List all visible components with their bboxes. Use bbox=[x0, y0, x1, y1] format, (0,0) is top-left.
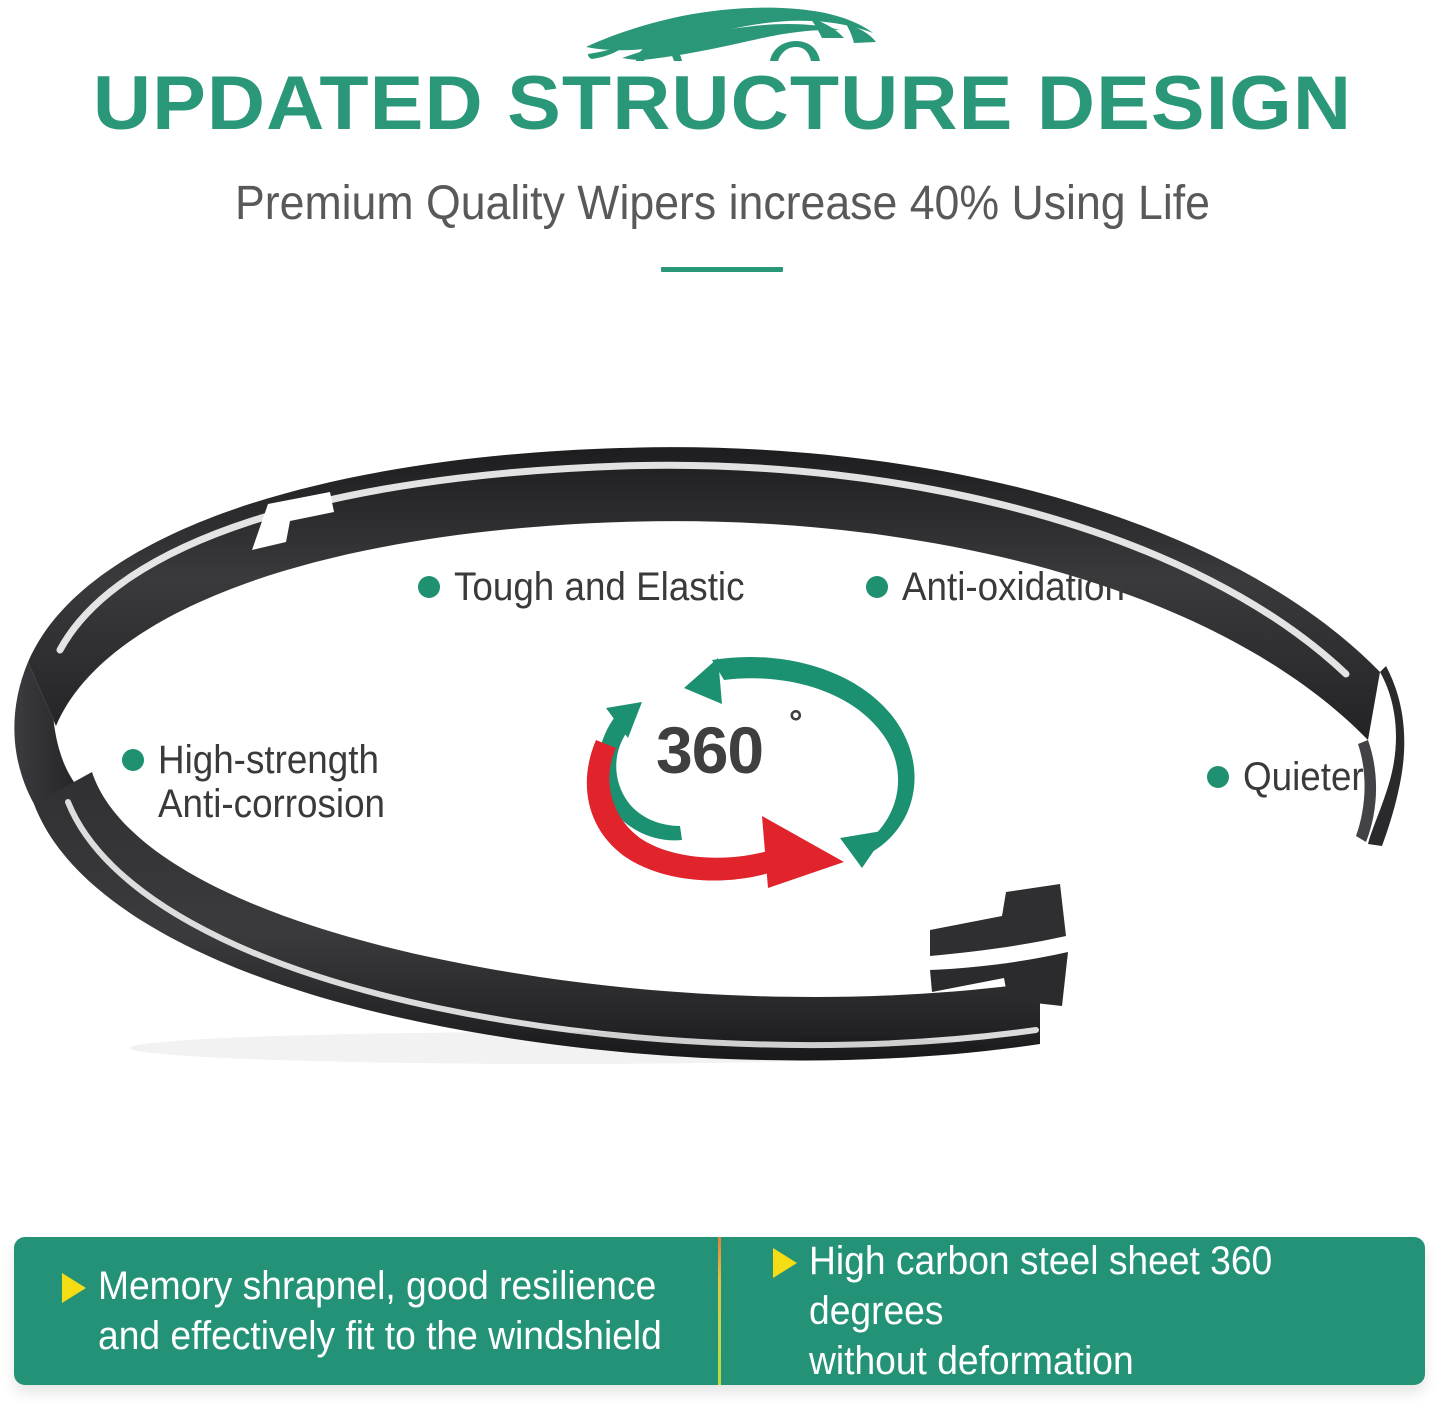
badge-360-degree: 360 ° bbox=[572, 652, 924, 888]
title-divider bbox=[661, 267, 783, 272]
triangle-marker-icon bbox=[773, 1248, 797, 1278]
strip-ground-shadow bbox=[130, 1032, 990, 1064]
page-subtitle: Premium Quality Wipers increase 40% Usin… bbox=[51, 176, 1395, 232]
bullet-dot-icon bbox=[1207, 766, 1229, 788]
product-infographic: UPDATED STRUCTURE DESIGN Premium Quality… bbox=[0, 0, 1445, 1421]
bullet-dot-icon bbox=[122, 749, 144, 771]
banner-item-high-carbon-steel: High carbon steel sheet 360 degrees with… bbox=[773, 1237, 1425, 1385]
bullet-dot-icon bbox=[866, 576, 888, 598]
feature-quieter: Quieter bbox=[1207, 755, 1374, 799]
banner-item-text: High carbon steel sheet 360 degrees with… bbox=[809, 1237, 1382, 1385]
page-title: UPDATED STRUCTURE DESIGN bbox=[0, 64, 1445, 144]
feature-label: Tough and Elastic bbox=[454, 565, 745, 609]
banner-column-right: High carbon steel sheet 360 degrees with… bbox=[721, 1237, 1425, 1385]
green-arrow-head-right bbox=[840, 830, 888, 868]
feature-label: Anti-oxidation bbox=[902, 565, 1125, 609]
banner-column-left: Memory shrapnel, good resilience and eff… bbox=[14, 1237, 718, 1385]
feature-banner: Memory shrapnel, good resilience and eff… bbox=[14, 1237, 1425, 1385]
feature-tough-and-elastic: Tough and Elastic bbox=[418, 565, 770, 609]
banner-item-text: Memory shrapnel, good resilience and eff… bbox=[98, 1261, 662, 1361]
feature-high-strength-anti-corrosion: High-strength Anti-corrosion bbox=[122, 738, 405, 826]
green-arrow-head-left bbox=[684, 658, 722, 704]
badge-degree-symbol: ° bbox=[789, 704, 803, 743]
feature-anti-oxidation: Anti-oxidation bbox=[866, 565, 1144, 609]
bullet-dot-icon bbox=[418, 576, 440, 598]
red-arrow-head bbox=[762, 816, 844, 888]
triangle-marker-icon bbox=[62, 1273, 86, 1303]
banner-item-memory-shrapnel: Memory shrapnel, good resilience and eff… bbox=[62, 1261, 704, 1361]
feature-label: Quieter bbox=[1243, 755, 1364, 799]
feature-label: High-strength Anti-corrosion bbox=[158, 738, 385, 826]
badge-value: 360 bbox=[656, 714, 763, 786]
strip-tab-upper-right bbox=[930, 884, 1066, 956]
car-silhouette-icon bbox=[578, 2, 878, 64]
